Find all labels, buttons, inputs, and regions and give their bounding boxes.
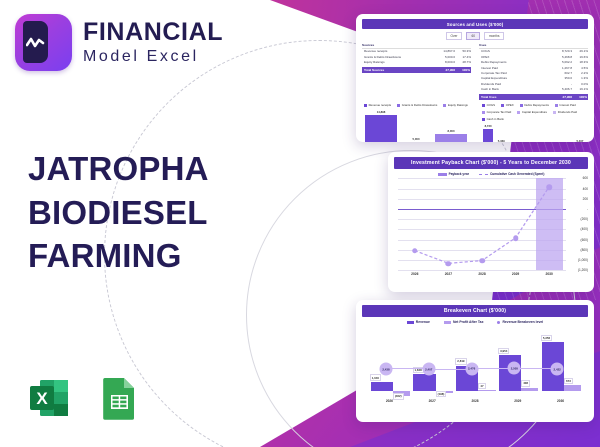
- x-tick-label: 2026: [398, 272, 432, 276]
- breakeven-level-bubble: 2,476: [465, 362, 478, 375]
- period-selector[interactable]: Over 60 months: [362, 32, 588, 40]
- sources-total-pct: 100%: [455, 68, 471, 72]
- net-profit-value-label: 47: [478, 383, 485, 390]
- bar-column: 1,268: [522, 123, 532, 142]
- y-tick-label: (400): [581, 227, 588, 231]
- uses-row-pct: 0.0%: [572, 82, 588, 86]
- net-profit-bar: [564, 385, 581, 391]
- table-row: Revenue receipts14,897.050.3%: [362, 49, 471, 54]
- panel-investment-payback: Investment Payback Chart ($'000) - 5 Yea…: [388, 152, 594, 292]
- sources-row-pct: 17.4%: [455, 55, 471, 59]
- breakeven-group: 5,356673: [539, 333, 582, 391]
- breakeven-group: 1,040(462): [368, 333, 411, 391]
- uses-total-label: Total Uses: [479, 95, 550, 99]
- y-tick-label: 400: [583, 187, 588, 191]
- y-tick-label: 200: [583, 197, 588, 201]
- bar-value-label: 8,000: [448, 129, 455, 133]
- brand-lockup: FINANCIAL Model Excel: [0, 0, 340, 71]
- uses-legend-item: Capital Expenditure: [517, 110, 547, 114]
- bar-column: 5,407: [575, 123, 585, 142]
- payback-x-axis-labels: 20262027202820292030: [398, 272, 566, 276]
- file-format-icons: X: [24, 373, 144, 423]
- uses-row-name: Dividends Paid: [479, 82, 550, 86]
- sources-legend-item: Revenue receipts: [364, 103, 391, 107]
- uses-row-name: Interest Paid: [479, 66, 550, 70]
- sources-row-value: 5,000.0: [433, 55, 455, 59]
- breakeven-level-bubble: 2,505: [508, 362, 521, 375]
- sources-bar-chart: 14,8985,0008,000: [362, 109, 470, 142]
- cover-left-column: FINANCIAL Model Excel JATROPHA BIODIESEL…: [0, 0, 340, 447]
- uses-row-pct: 18.3%: [572, 60, 588, 64]
- net-profit-bar: [478, 390, 495, 391]
- bar-column: 5,092: [509, 123, 519, 142]
- brand-text: FINANCIAL Model Excel: [83, 17, 223, 67]
- legend-net-profit: Net Profit After Tax: [444, 320, 484, 324]
- sources-legend-item: Equity Raisings: [443, 103, 468, 107]
- uses-row-pct: 19.6%: [572, 55, 588, 59]
- y-tick-label: (200): [581, 217, 588, 221]
- uses-row-value: 8,720.3: [550, 49, 572, 53]
- x-tick-label: 2028: [465, 272, 499, 276]
- uses-rows: COGS8,720.329.1%OPEX5,468.819.6%Debts Re…: [479, 49, 588, 92]
- x-tick-label: 2030: [539, 399, 582, 403]
- table-row: Interest Paid1,267.84.5%: [479, 65, 588, 70]
- table-row: Debts Repayments5,092.218.3%: [479, 59, 588, 64]
- uses-legend-item: Cash in Bank: [482, 117, 504, 121]
- breakeven-level-bubble: 2,407: [422, 363, 435, 376]
- net-profit-value-label: (198): [436, 391, 447, 398]
- bar-value-label: 8,720: [485, 124, 492, 128]
- revenue-bar: [371, 382, 393, 392]
- logo-zigzag-icon: [26, 37, 45, 49]
- uses-table: Uses COGS8,720.329.1%OPEX5,468.819.6%Deb…: [479, 43, 588, 100]
- revenue-value-label: 3,954: [498, 348, 509, 355]
- period-prefix-label: Over: [446, 32, 463, 40]
- breakeven-group: 1,848(198): [411, 333, 454, 391]
- uses-chart-legend: COGSOPEXDebts RepaymentsInterest PaidCor…: [480, 103, 588, 121]
- table-row: Capital Expenditure350.01.3%: [479, 76, 588, 81]
- uses-row-value: 5,406.7: [550, 87, 572, 91]
- y-tick-label: -: [587, 207, 588, 211]
- bar: [435, 134, 467, 142]
- uses-row-name: Capital Expenditure: [479, 76, 550, 80]
- x-tick-label: 2029: [496, 399, 539, 403]
- bar-value-label: 5,000: [413, 137, 420, 141]
- bar-column: 8,720: [483, 123, 493, 142]
- sources-uses-tables: Sources Revenue receipts14,897.050.3%Gra…: [362, 43, 588, 100]
- y-tick-label: (1,000): [578, 258, 588, 262]
- breakeven-level-bubble: 2,438: [379, 363, 392, 376]
- uses-row-value: 5,092.2: [550, 60, 572, 64]
- uses-row-value: 5,468.8: [550, 55, 572, 59]
- sources-row-name: Grants & Debts Drawdowns: [362, 55, 433, 59]
- bar-column: 5,469: [496, 123, 506, 142]
- y-tick-label: 600: [583, 176, 588, 180]
- revenue-value-label: 5,356: [541, 335, 552, 342]
- panel-title-sources-uses: Sources and Uses ($'000): [362, 19, 588, 29]
- panel-title-breakeven: Breakeven Chart ($'000): [362, 305, 588, 317]
- uses-legend-item: OPEX: [501, 103, 514, 107]
- uses-row-pct: 1.3%: [572, 76, 588, 80]
- uses-row-value: -: [550, 82, 572, 86]
- sources-row-value: 8,000.0: [433, 60, 455, 64]
- breakeven-plot-area: 20262027202820292030 1,040(462)1,848(198…: [368, 326, 582, 402]
- uses-row-pct: 19.1%: [572, 87, 588, 91]
- bar-value-label: 14,898: [377, 110, 386, 114]
- y-tick-label: (800): [581, 248, 588, 252]
- sources-total-row: Total Sources 27,908 100%: [362, 67, 471, 73]
- bar-value-label: 5,407: [576, 139, 583, 142]
- bar-value-label: 5,092: [511, 141, 518, 142]
- breakeven-x-axis-labels: 20262027202820292030: [368, 399, 582, 403]
- bar-column: 14,898: [365, 109, 397, 142]
- excel-icon: X: [24, 373, 74, 423]
- breakeven-legend: Revenue Net Profit After Tax Revenue Bre…: [362, 320, 588, 324]
- x-tick-label: 2030: [532, 272, 566, 276]
- sources-table: Sources Revenue receipts14,897.050.3%Gra…: [362, 43, 471, 100]
- svg-text:X: X: [36, 389, 48, 408]
- bar-column: 8,000: [435, 109, 467, 142]
- sources-row-pct: 50.3%: [455, 49, 471, 53]
- revenue-value-label: 1,040: [370, 374, 381, 381]
- uses-legend-item: Interest Paid: [555, 103, 576, 107]
- net-profit-value-label: (462): [393, 393, 404, 400]
- sources-row-pct: 28.7%: [455, 60, 471, 64]
- brand-name-primary: FINANCIAL: [83, 19, 223, 45]
- page-title: JATROPHA BIODIESEL FARMING: [28, 147, 340, 278]
- period-value[interactable]: 60: [466, 32, 480, 40]
- y-tick-label: (1,200): [578, 268, 588, 272]
- uses-legend-item: Dividends Paid: [553, 110, 577, 114]
- gridline: [398, 270, 566, 271]
- x-tick-label: 2029: [499, 272, 533, 276]
- uses-row-name: COGS: [479, 49, 550, 53]
- table-row: Equity Raisings8,000.028.7%: [362, 59, 471, 64]
- bar: [483, 129, 493, 142]
- financial-model-excel-logo-icon: [15, 14, 72, 71]
- revenue-bar: [413, 374, 435, 391]
- legend-revenue: Revenue: [407, 320, 430, 324]
- table-row: OPEX5,468.819.6%: [479, 54, 588, 59]
- uses-legend-item: Corporate Tax Paid: [482, 110, 511, 114]
- legend-breakeven-level: Revenue Breakeven level: [497, 320, 543, 324]
- sources-row-name: Revenue receipts: [362, 49, 433, 53]
- sources-total-value: 27,908: [433, 68, 455, 72]
- brand-name-secondary: Model Excel: [83, 47, 223, 68]
- sources-rows: Revenue receipts14,897.050.3%Grants & De…: [362, 49, 471, 65]
- uses-row-pct: 4.5%: [572, 66, 588, 70]
- x-tick-label: 2027: [432, 272, 466, 276]
- google-sheets-icon: [94, 373, 144, 423]
- uses-row-value: 350.0: [550, 76, 572, 80]
- uses-bar-chart: 8,7205,4695,0921,268603350-5,407: [480, 123, 588, 142]
- uses-row-pct: 29.1%: [572, 49, 588, 53]
- table-row: Corporate Tax Paid602.72.2%: [479, 70, 588, 75]
- uses-total-value: 27,908: [550, 95, 572, 99]
- bar: [365, 115, 397, 142]
- table-row: Dividends Paid-0.0%: [479, 81, 588, 86]
- uses-row-name: Cash in Bank: [479, 87, 550, 91]
- table-row: Grants & Debts Drawdowns5,000.017.4%: [362, 54, 471, 59]
- uses-row-name: OPEX: [479, 55, 550, 59]
- payback-line-series: [398, 178, 566, 270]
- x-tick-label: 2026: [368, 399, 411, 403]
- table-row: COGS8,720.329.1%: [479, 49, 588, 54]
- uses-legend-item: COGS: [482, 103, 495, 107]
- bar-value-label: 5,469: [498, 139, 505, 142]
- period-suffix-label: months: [484, 32, 504, 40]
- bar-column: -: [562, 123, 572, 142]
- breakeven-level-bubble: 2,422: [551, 363, 564, 376]
- uses-row-value: 602.7: [550, 71, 572, 75]
- table-row: Cash in Bank5,406.719.1%: [479, 86, 588, 91]
- legend-cumulative-cash: Cumulative Cash Generated (Spent): [479, 172, 544, 176]
- sources-row-name: Equity Raisings: [362, 60, 433, 64]
- uses-row-name: Debts Repayments: [479, 60, 550, 64]
- payback-y-axis-labels: 600400200-(200)(400)(600)(800)(1,000)(1,…: [567, 178, 588, 270]
- panel-breakeven: Breakeven Chart ($'000) Revenue Net Prof…: [356, 300, 594, 422]
- sources-chart-legend: Revenue receiptsGrants & Debts Drawdowns…: [362, 103, 470, 107]
- sources-total-label: Total Sources: [362, 68, 433, 72]
- sources-uses-charts: Revenue receiptsGrants & Debts Drawdowns…: [362, 100, 588, 142]
- sources-row-value: 14,897.0: [433, 49, 455, 53]
- bar-column: 5,000: [400, 109, 432, 142]
- panel-title-payback: Investment Payback Chart ($'000) - 5 Yea…: [394, 157, 588, 169]
- legend-payback-year: Payback year: [438, 172, 469, 176]
- uses-row-value: 1,267.8: [550, 66, 572, 70]
- x-tick-label: 2028: [454, 399, 497, 403]
- revenue-value-label: 2,819: [455, 358, 466, 365]
- bar-column: 603: [536, 123, 546, 142]
- sources-legend-item: Grants & Debts Drawdowns: [397, 103, 437, 107]
- bar-column: 350: [549, 123, 559, 142]
- net-profit-value-label: 408: [521, 380, 530, 387]
- y-tick-label: (600): [581, 238, 588, 242]
- panel-sources-and-uses: Sources and Uses ($'000) Over 60 months …: [356, 14, 594, 142]
- uses-row-name: Corporate Tax Paid: [479, 71, 550, 75]
- net-profit-value-label: 673: [564, 378, 573, 385]
- payback-legend: Payback year Cumulative Cash Generated (…: [394, 172, 588, 176]
- payback-plot-area: 600400200-(200)(400)(600)(800)(1,000)(1,…: [398, 178, 566, 270]
- uses-row-pct: 2.2%: [572, 71, 588, 75]
- uses-legend-item: Debts Repayments: [520, 103, 549, 107]
- uses-total-pct: 100%: [572, 95, 588, 99]
- x-tick-label: 2027: [411, 399, 454, 403]
- net-profit-bar: [521, 388, 538, 392]
